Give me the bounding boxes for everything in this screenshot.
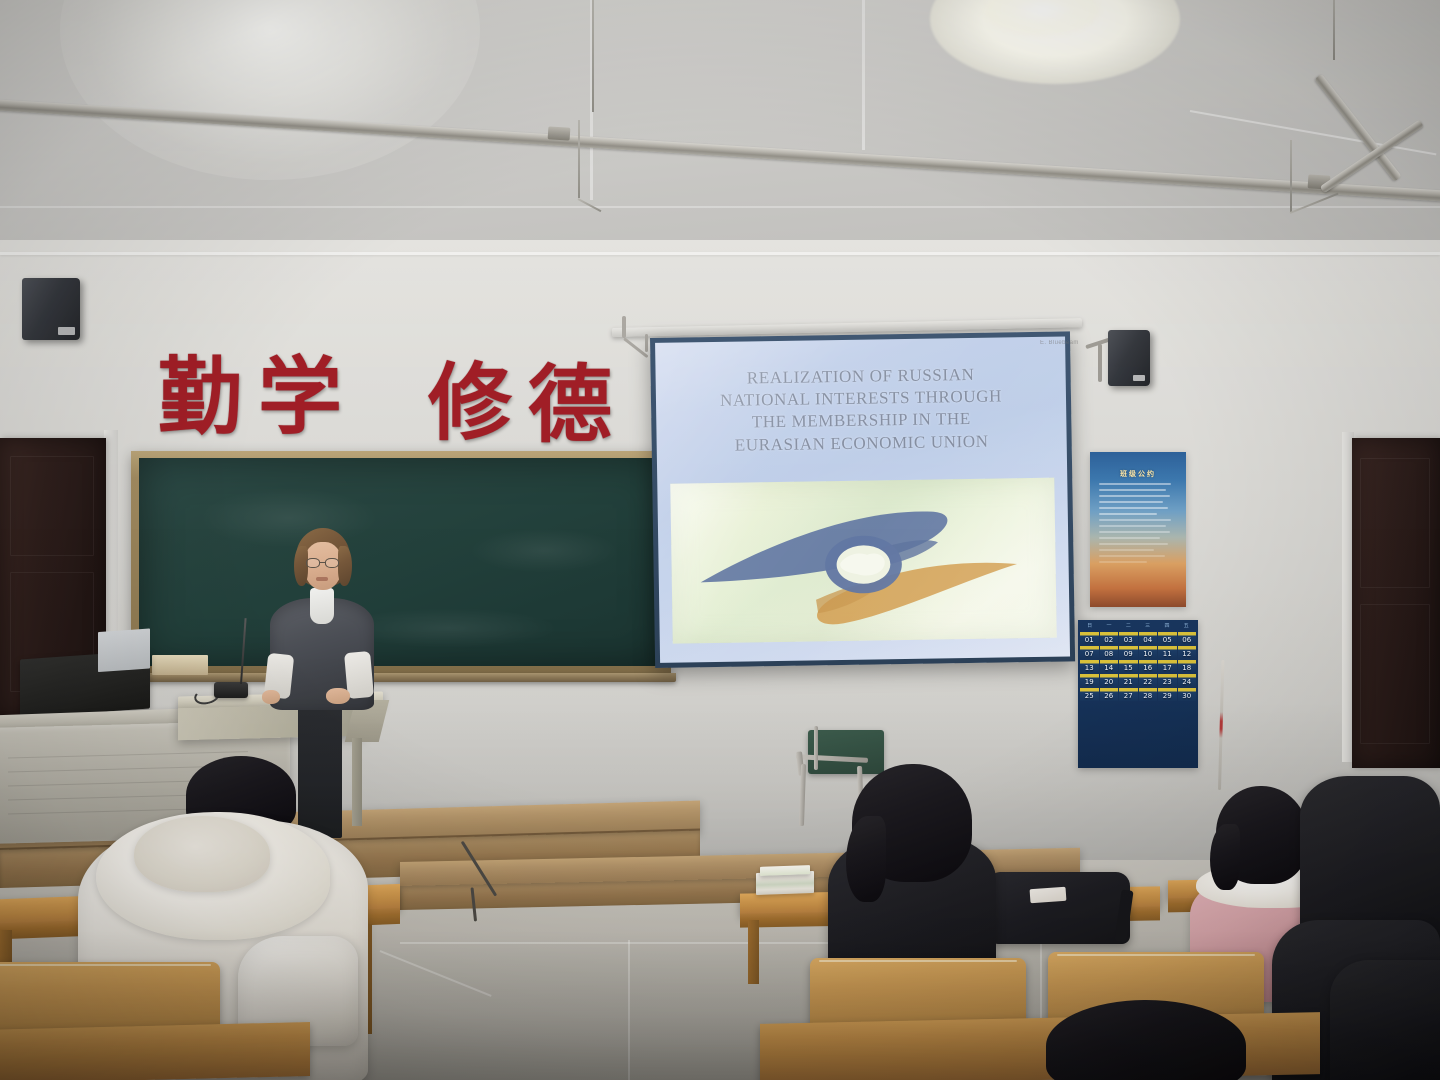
floor-tile-line-2 (628, 940, 630, 1080)
calendar-cell: 03 (1119, 632, 1138, 645)
wall-trim-upper (0, 252, 1440, 255)
laptop-display (98, 628, 150, 672)
pipe-hanger-3 (1290, 140, 1292, 212)
student-front-right-shoulder (1330, 960, 1440, 1080)
door-right-panel-2 (1360, 604, 1430, 744)
speaker-badge-right (1133, 375, 1145, 381)
pipe-hanger-4 (578, 120, 580, 198)
calendar-cell: 26 (1100, 688, 1119, 701)
calendar-day: 15 (1124, 665, 1133, 673)
student-desk-leg-1 (748, 920, 759, 984)
calendar-day: 06 (1182, 637, 1191, 645)
wall-poster: 班级公约 (1090, 452, 1186, 607)
speaker-left (22, 278, 80, 340)
lecturer-glasses-bridge (320, 562, 325, 563)
projection-screen[interactable]: REALIZATION OF RUSSIAN NATIONAL INTEREST… (650, 331, 1075, 668)
slide-title-line-4: EURASIAN ECONOMIC UNION (671, 430, 1053, 458)
chair-highlight (0, 964, 211, 966)
banner-char-4: 德 (528, 366, 612, 446)
calendar-cell: 13 (1080, 660, 1099, 673)
calendar-weekday-2: 二 (1119, 622, 1138, 629)
projected-slide: REALIZATION OF RUSSIAN NATIONAL INTEREST… (655, 336, 1070, 662)
calendar-day: 29 (1163, 693, 1172, 701)
calendar-cell: 23 (1158, 674, 1177, 687)
calendar-day: 02 (1104, 637, 1113, 645)
banner-char-2: 学 (258, 358, 342, 438)
calendar-cell: 05 (1158, 632, 1177, 645)
student-dark-coat-hair-side (846, 816, 886, 902)
calendar-cell: 20 (1100, 674, 1119, 687)
chalkboard (139, 458, 663, 666)
calendar-cell: 07 (1080, 646, 1099, 659)
calendar-weekday-3: 三 (1138, 622, 1157, 629)
door-right[interactable] (1352, 438, 1440, 768)
banner-char-1: 勤 (158, 358, 242, 438)
lecturer-mouth (316, 577, 328, 581)
student-dark-coat (828, 764, 998, 984)
ceiling (0, 0, 1440, 250)
calendar-cell: 11 (1158, 646, 1177, 659)
lecturer-shirt-collar (310, 588, 334, 624)
eaeu-logo-icon (670, 477, 1056, 643)
calendar-weekday-5: 五 (1177, 622, 1196, 629)
calendar-cell: 12 (1178, 646, 1197, 659)
calendar-cell: 14 (1100, 660, 1119, 673)
calendar-day: 20 (1104, 679, 1113, 687)
screen-mount-rod (622, 316, 626, 338)
door-left-panel (10, 456, 94, 556)
calendar-day: 30 (1182, 693, 1191, 701)
calendar-day: 18 (1182, 665, 1191, 673)
calendar-cell: 15 (1119, 660, 1138, 673)
chalk-box (152, 655, 208, 675)
calendar-day: 10 (1143, 651, 1152, 659)
calendar-cell: 27 (1119, 688, 1138, 701)
lecturer-hand-right (326, 688, 350, 704)
calendar-cell: 02 (1100, 632, 1119, 645)
calendar-weekday-1: 一 (1099, 622, 1118, 629)
student-white-fur-hood-inner (134, 816, 270, 892)
pipe-coupling-1 (548, 126, 571, 140)
calendar-day: 22 (1143, 679, 1152, 687)
projector-brand-label: E. Bluebeam (1040, 340, 1079, 346)
calendar-weekday-row: 日 一 二 三 四 五 (1078, 620, 1198, 631)
calendar-day: 07 (1085, 651, 1094, 659)
calendar-day: 23 (1163, 679, 1172, 687)
calendar-day: 19 (1085, 679, 1094, 687)
calendar-day: 01 (1085, 637, 1094, 645)
calendar-day: 09 (1124, 651, 1133, 659)
calendar-day: 13 (1085, 665, 1094, 673)
pipe-hanger-2 (1333, 0, 1335, 60)
lecturer-hair-side-right (338, 546, 352, 586)
calendar-day: 25 (1085, 693, 1094, 701)
chair-highlight (819, 960, 1018, 962)
phone-on-desk[interactable] (1030, 887, 1067, 903)
speaker-right (1108, 330, 1150, 386)
student-pink-coat-hair-strand (1210, 824, 1240, 890)
books-stack-2[interactable] (760, 865, 810, 876)
calendar-day: 08 (1104, 651, 1113, 659)
calendar-cell: 01 (1080, 632, 1099, 645)
calendar-day: 21 (1124, 679, 1133, 687)
lecturer-glasses-right-lens (325, 558, 339, 568)
chair-green-backpost (814, 726, 818, 770)
calendar-day: 24 (1182, 679, 1191, 687)
calendar-weekday-0: 日 (1080, 622, 1099, 629)
calendar-cell: 24 (1178, 674, 1197, 687)
calendar-day: 26 (1104, 693, 1113, 701)
calendar-cell: 28 (1139, 688, 1158, 701)
calendar-day: 03 (1124, 637, 1133, 645)
calendar-day: 05 (1163, 637, 1172, 645)
chair-highlight (1057, 954, 1256, 956)
calendar-cell: 18 (1178, 660, 1197, 673)
calendar-cell: 10 (1139, 646, 1158, 659)
desk-front-row-left (0, 1022, 310, 1080)
wall-calendar: 日 一 二 三 四 五 01 02 03 04 05 06 07 08 09 1… (1078, 620, 1198, 768)
calendar-cell: 21 (1119, 674, 1138, 687)
lecturer-hand-left (262, 690, 280, 704)
calendar-cell: 06 (1178, 632, 1197, 645)
chalkboard-frame (131, 451, 671, 673)
calendar-day: 17 (1163, 665, 1172, 673)
calendar-day: 16 (1143, 665, 1152, 673)
poster-text-lines (1099, 483, 1178, 567)
calendar-cell: 29 (1158, 688, 1177, 701)
laptop[interactable] (20, 650, 150, 717)
classroom-photo: 勤 学 修 德 明 REALIZATION OF RUSSIAN NATIONA… (0, 0, 1440, 1080)
calendar-day: 27 (1124, 693, 1133, 701)
calendar-cell: 19 (1080, 674, 1099, 687)
calendar-cell: 16 (1139, 660, 1158, 673)
calendar-weekday-4: 四 (1157, 622, 1176, 629)
calendar-day: 11 (1163, 651, 1172, 659)
screen-mount-rod-2 (645, 334, 648, 352)
banner-char-3: 修 (428, 364, 512, 444)
slide-title: REALIZATION OF RUSSIAN NATIONAL INTEREST… (655, 362, 1066, 458)
poster-heading: 班级公约 (1090, 469, 1186, 479)
calendar-grid: 01 02 03 04 05 06 07 08 09 10 11 12 13 1… (1078, 631, 1198, 703)
calendar-day: 04 (1143, 637, 1152, 645)
calendar-cell: 17 (1158, 660, 1177, 673)
calendar-cell: 30 (1178, 688, 1197, 701)
calendar-cell: 08 (1100, 646, 1119, 659)
slide-eaeu-flag (670, 477, 1056, 643)
calendar-cell: 22 (1139, 674, 1158, 687)
door-right-panel (1360, 458, 1430, 588)
calendar-cell: 04 (1139, 632, 1158, 645)
calendar-day: 28 (1143, 693, 1152, 701)
calendar-day: 12 (1182, 651, 1191, 659)
speaker-badge-left (58, 327, 75, 335)
pipe-hanger-1 (592, 0, 594, 112)
calendar-cell: 25 (1080, 688, 1099, 701)
speaker-right-post (1098, 344, 1102, 382)
calendar-cell: 09 (1119, 646, 1138, 659)
chalk-tray (126, 673, 676, 682)
calendar-day: 14 (1104, 665, 1113, 673)
lecturer-glasses-left-lens (306, 558, 320, 568)
backpack[interactable] (990, 872, 1130, 944)
